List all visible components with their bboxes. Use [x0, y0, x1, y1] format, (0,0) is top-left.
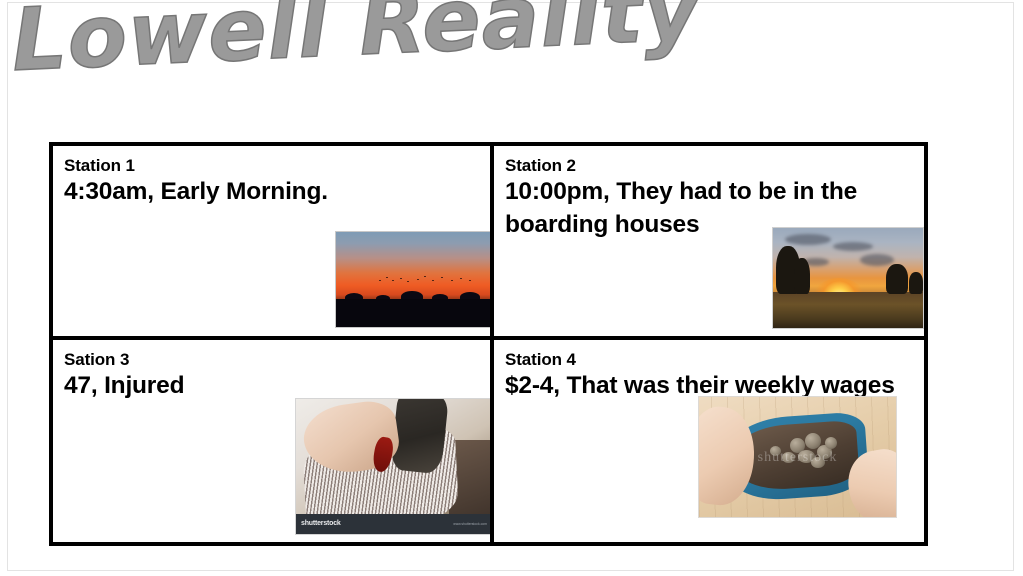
- station-label-4: Station 4: [505, 349, 924, 370]
- wallet-coins-photo: shutterstock www.shutterstock.com · 1117…: [698, 396, 897, 518]
- shutterstock-watermark: shutterstock: [699, 450, 896, 466]
- station-cell-4: Station 4 $2-4, That was their weekly wa…: [490, 336, 924, 542]
- shutterstock-watermark-bar: shutterstock www.shutterstock.com: [296, 514, 490, 534]
- shutterstock-logo: shutterstock: [301, 520, 341, 527]
- title-area: Lowell Reality: [0, 0, 1023, 108]
- station-table: Station 1 4:30am, Early Morning.: [49, 142, 928, 546]
- shutterstock-url: www.shutterstock.com: [453, 522, 487, 526]
- station-cell-3: Sation 3 47, Injured shutterstock www.sh…: [53, 336, 490, 542]
- sewing-machine-injury-photo: shutterstock www.shutterstock.com: [295, 398, 490, 535]
- station-label-2: Station 2: [505, 155, 924, 176]
- station-cell-1: Station 1 4:30am, Early Morning.: [53, 146, 490, 336]
- sunset-field-photo: [772, 227, 924, 329]
- dawn-sky-photo: [335, 231, 490, 328]
- station-text-1: 4:30am, Early Morning.: [64, 176, 479, 208]
- station-label-3: Sation 3: [64, 349, 490, 370]
- station-label-1: Station 1: [64, 155, 490, 176]
- station-cell-2: Station 2 10:00pm, They had to be in the…: [490, 146, 924, 336]
- page-title: Lowell Reality: [10, 0, 702, 86]
- presentation-slide: Lowell Reality Station 1 4:30am, Early M…: [0, 0, 1023, 576]
